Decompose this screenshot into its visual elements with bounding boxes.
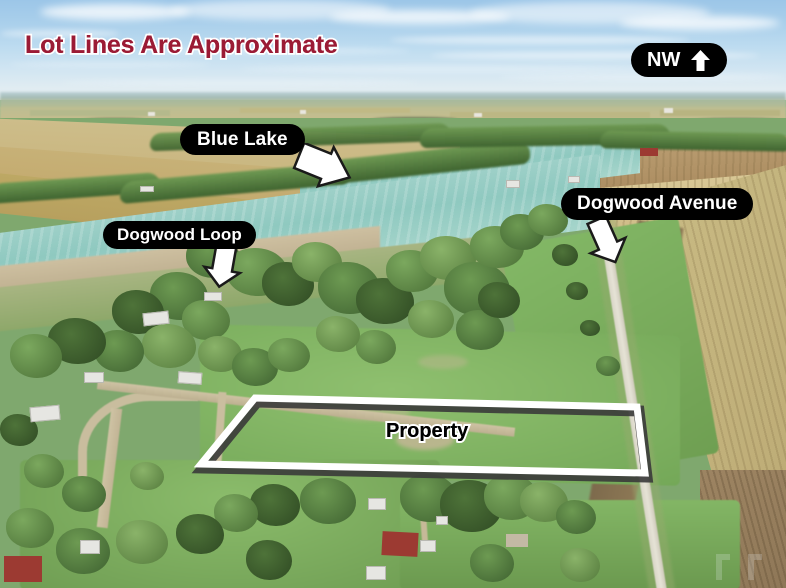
tree bbox=[176, 514, 224, 554]
label-dogwood-loop[interactable]: Dogwood Loop bbox=[103, 221, 256, 249]
compass-badge[interactable]: NW bbox=[631, 43, 727, 77]
tree bbox=[62, 476, 106, 512]
building bbox=[142, 311, 169, 327]
tree bbox=[130, 462, 164, 490]
cloud bbox=[240, 66, 660, 72]
tree bbox=[478, 282, 520, 318]
building bbox=[80, 540, 100, 554]
tree bbox=[6, 508, 54, 548]
building bbox=[568, 176, 580, 183]
building bbox=[84, 372, 104, 383]
aerial-photo-canvas: Property Property Blue Lake Dogwood Loop… bbox=[0, 0, 786, 588]
tree bbox=[300, 478, 356, 524]
building bbox=[506, 180, 520, 188]
tree bbox=[580, 320, 600, 336]
tree bbox=[116, 520, 168, 564]
building bbox=[640, 148, 658, 156]
distant-building bbox=[300, 110, 306, 114]
tree bbox=[556, 500, 596, 534]
tree bbox=[10, 334, 62, 378]
tree bbox=[250, 484, 300, 526]
tree bbox=[560, 548, 600, 582]
compass-label: NW bbox=[647, 49, 681, 72]
cloud bbox=[620, 16, 780, 30]
label-dogwood-avenue[interactable]: Dogwood Avenue bbox=[561, 188, 753, 220]
distant-building bbox=[664, 108, 673, 113]
bare-dirt-patch bbox=[418, 355, 468, 369]
label-dogwood-loop-text: Dogwood Loop bbox=[117, 225, 242, 245]
up-arrow-icon bbox=[690, 49, 711, 72]
building bbox=[140, 186, 154, 192]
cloud bbox=[60, 80, 420, 85]
tree bbox=[142, 324, 196, 368]
distant-field bbox=[240, 108, 410, 113]
arrow-down-left-icon bbox=[580, 214, 632, 268]
building bbox=[381, 531, 418, 557]
tree bbox=[356, 330, 396, 364]
disclaimer-text: Lot Lines Are Approximate bbox=[25, 31, 338, 60]
tree bbox=[268, 338, 310, 372]
building bbox=[436, 516, 448, 525]
label-blue-lake-text: Blue Lake bbox=[197, 129, 288, 151]
tree bbox=[470, 544, 514, 582]
cloud bbox=[10, 62, 210, 67]
tree bbox=[246, 540, 292, 580]
building bbox=[368, 498, 386, 510]
building bbox=[204, 292, 222, 301]
distant-building bbox=[148, 112, 155, 116]
label-blue-lake[interactable]: Blue Lake bbox=[180, 124, 305, 155]
tree bbox=[596, 356, 620, 376]
building bbox=[4, 556, 42, 582]
building bbox=[29, 405, 60, 423]
building bbox=[506, 534, 528, 547]
arrow-down-right-icon bbox=[292, 143, 356, 189]
building bbox=[178, 371, 203, 385]
distant-building bbox=[474, 113, 482, 117]
watermark-logo bbox=[708, 540, 778, 582]
tree bbox=[566, 282, 588, 300]
distant-field bbox=[660, 110, 780, 116]
tree bbox=[408, 300, 454, 338]
label-dogwood-avenue-text: Dogwood Avenue bbox=[577, 193, 737, 215]
building bbox=[366, 566, 386, 580]
cloud bbox=[40, 4, 190, 20]
treeline bbox=[600, 130, 786, 151]
property-label: Property bbox=[386, 420, 468, 443]
tree bbox=[24, 454, 64, 488]
tree bbox=[316, 316, 360, 352]
building bbox=[420, 540, 436, 552]
tree bbox=[552, 244, 578, 266]
